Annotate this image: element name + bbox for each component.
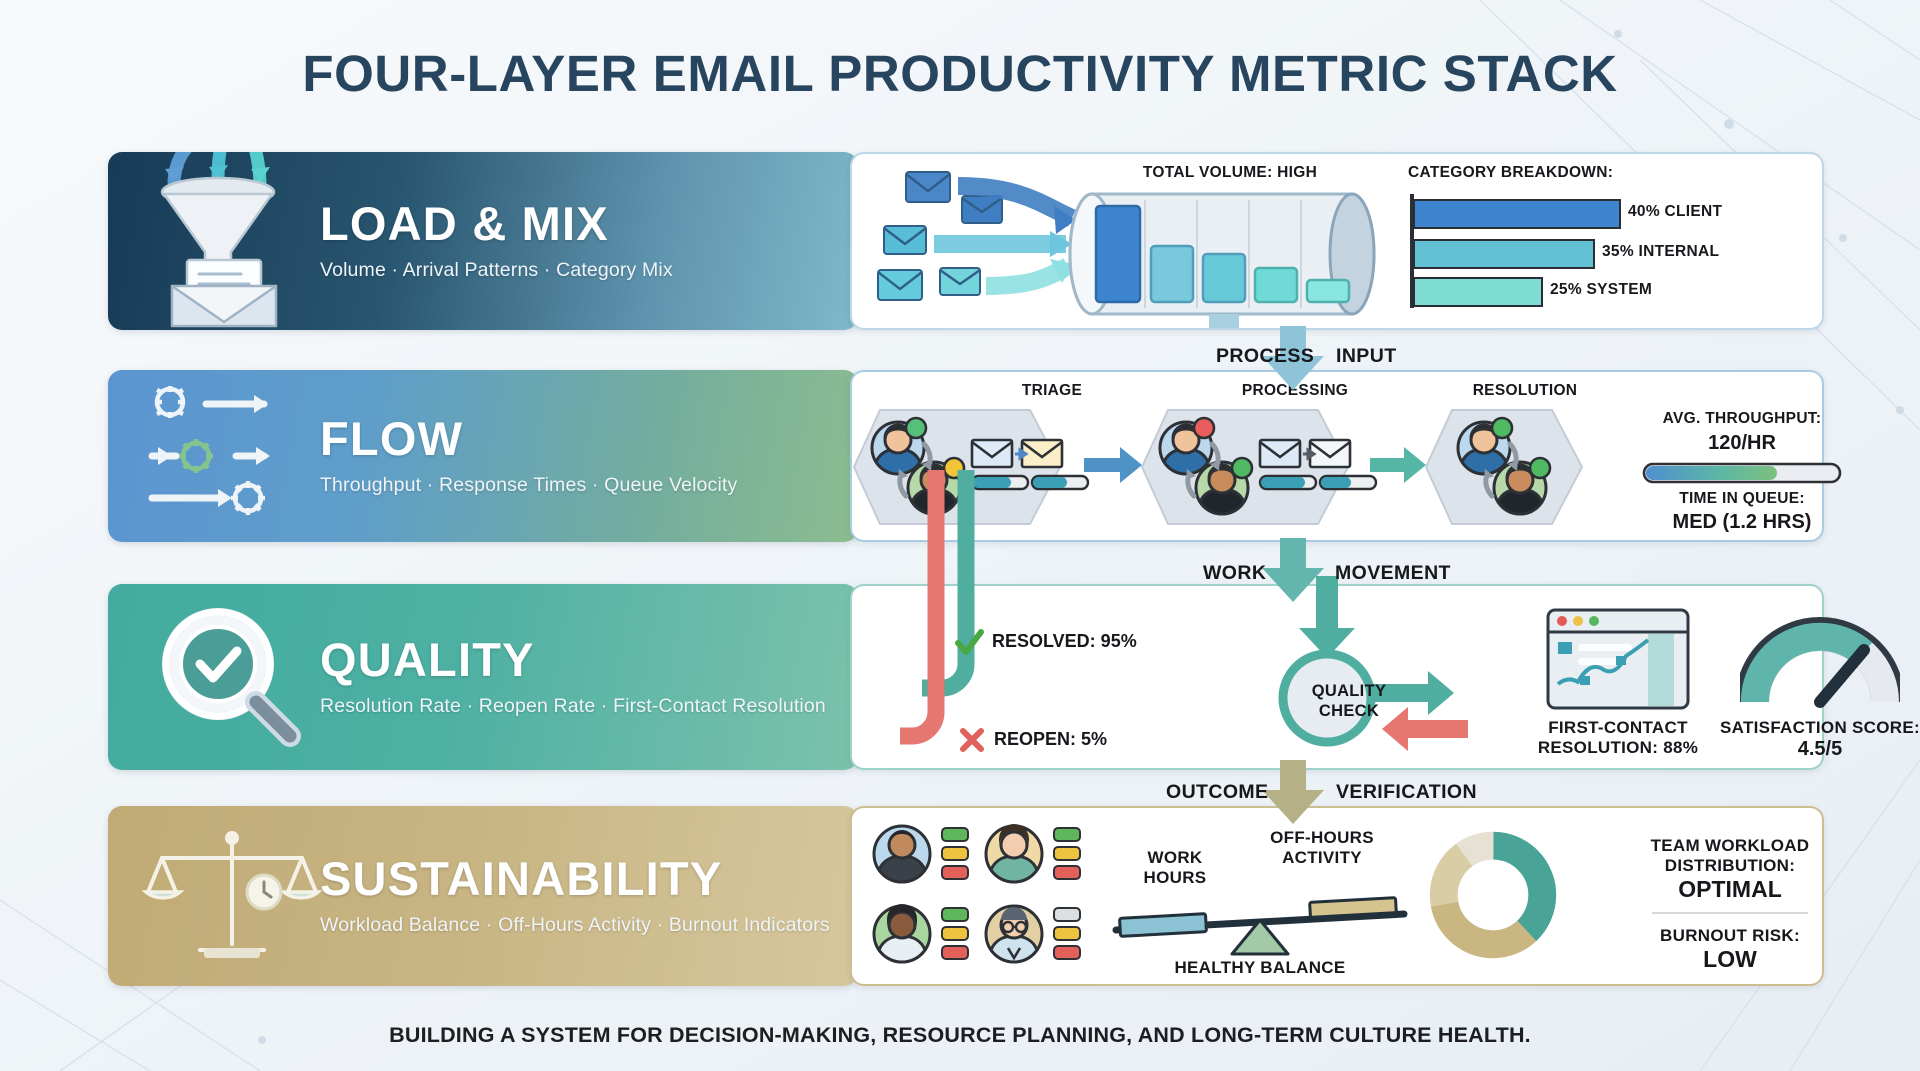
satisfaction-label: SATISFACTION SCORE: (1708, 718, 1920, 738)
gears-arrows-icon (140, 386, 320, 526)
connector-arrow-outcome-verification (1258, 760, 1328, 826)
connector-label-work: WORK (1203, 562, 1266, 585)
connector-arrow-work-movement (1258, 538, 1328, 604)
time-in-queue-label: TIME IN QUEUE: (1642, 490, 1842, 508)
category-breakdown-label: CATEGORY BREAKDOWN: (1408, 164, 1613, 182)
layer-row-load: LOAD & MIX Volume · Arrival Patterns · C… (108, 152, 1824, 330)
avg-throughput-value: 120/HR (1642, 432, 1842, 455)
flow-stage-label-resolution: RESOLUTION (1430, 382, 1620, 400)
offhours-label-1: OFF-HOURS (1252, 828, 1392, 848)
check-icon (954, 628, 984, 658)
satisfaction-gauge (1740, 606, 1900, 710)
work-balance-seesaw (1110, 878, 1410, 956)
reopen-rate-label: REOPEN: 5% (994, 729, 1107, 750)
divider (1652, 912, 1808, 914)
bar-label-system: 25% SYSTEM (1550, 281, 1652, 299)
page-footer: BUILDING A SYSTEM FOR DECISION-MAKING, R… (0, 1023, 1920, 1048)
satisfaction-value: 4.5/5 (1708, 738, 1920, 761)
scales-balance-icon (142, 822, 322, 970)
fcr-label-line1: FIRST-CONTACT (1506, 718, 1730, 738)
sustainability-metrics-panel: WORK HOURS OFF-HOURS ACTIVITY HEALTHY BA… (850, 806, 1824, 986)
funnel-envelope-icon (132, 152, 322, 330)
quality-hub-label-1: QUALITY (1294, 682, 1404, 701)
layer-header-load[interactable]: LOAD & MIX Volume · Arrival Patterns · C… (108, 152, 858, 330)
layer-subtitle-sustainability: Workload Balance · Off-Hours Activity · … (320, 914, 830, 937)
team-avatars-grid (866, 820, 1086, 976)
load-metrics-panel: TOTAL VOLUME: HIGH CATEGORY BREAKDOWN: 4… (850, 152, 1824, 330)
layer-subtitle-load: Volume · Arrival Patterns · Category Mix (320, 259, 673, 282)
page-title: FOUR-LAYER EMAIL PRODUCTIVITY METRIC STA… (0, 44, 1920, 103)
avg-throughput-label: AVG. THROUGHPUT: (1642, 410, 1842, 428)
layer-title-flow: FLOW (320, 415, 737, 462)
cross-icon (958, 726, 986, 754)
fcr-dashboard-icon (1544, 606, 1692, 712)
layer-header-sustainability[interactable]: SUSTAINABILITY Workload Balance · Off-Ho… (108, 806, 858, 986)
resolved-rate-label: RESOLVED: 95% (992, 631, 1137, 652)
fcr-label-line2: RESOLUTION: 88% (1506, 738, 1730, 758)
quality-metrics-panel: QUALITY CHECK RESOLVED: 95% REOPEN: 5% (850, 584, 1824, 770)
work-hours-label-1: WORK (1120, 848, 1230, 868)
connector-label-process: PROCESS (1216, 345, 1314, 368)
distribution-value: OPTIMAL (1600, 876, 1860, 903)
connector-label-outcome: OUTCOME (1166, 781, 1268, 804)
layer-row-sustainability: SUSTAINABILITY Workload Balance · Off-Ho… (108, 806, 1824, 986)
total-volume-label: TOTAL VOLUME: HIGH (1120, 164, 1340, 182)
quality-hub-label-2: CHECK (1294, 702, 1404, 721)
magnifier-check-icon (140, 602, 320, 752)
flow-stage-label-triage: TRIAGE (962, 382, 1142, 400)
distribution-label-2: DISTRIBUTION: (1600, 856, 1860, 876)
connector-label-input: INPUT (1336, 345, 1397, 368)
burnout-risk-label: BURNOUT RISK: (1600, 926, 1860, 946)
resolution-routing-pipes (382, 470, 1302, 790)
bar-label-client: 40% CLIENT (1628, 203, 1722, 221)
connector-label-verification: VERIFICATION (1336, 781, 1477, 804)
volume-cylinder-chart (1066, 188, 1386, 328)
distribution-label-1: TEAM WORKLOAD (1600, 836, 1860, 856)
connector-label-movement: MOVEMENT (1335, 562, 1451, 585)
layer-title-load: LOAD & MIX (320, 200, 673, 247)
healthy-balance-label: HEALTHY BALANCE (1110, 958, 1410, 978)
throughput-progress-bar[interactable] (1642, 462, 1842, 484)
workload-distribution-donut (1428, 830, 1558, 960)
time-in-queue-value: MED (1.2 HRS) (1642, 511, 1842, 534)
bar-label-internal: 35% INTERNAL (1602, 243, 1719, 261)
burnout-risk-value: LOW (1600, 946, 1860, 973)
layer-title-sustainability: SUSTAINABILITY (320, 855, 830, 902)
offhours-label-2: ACTIVITY (1252, 848, 1392, 868)
layer-row-quality: QUALITY Resolution Rate · Reopen Rate · … (108, 584, 1824, 770)
